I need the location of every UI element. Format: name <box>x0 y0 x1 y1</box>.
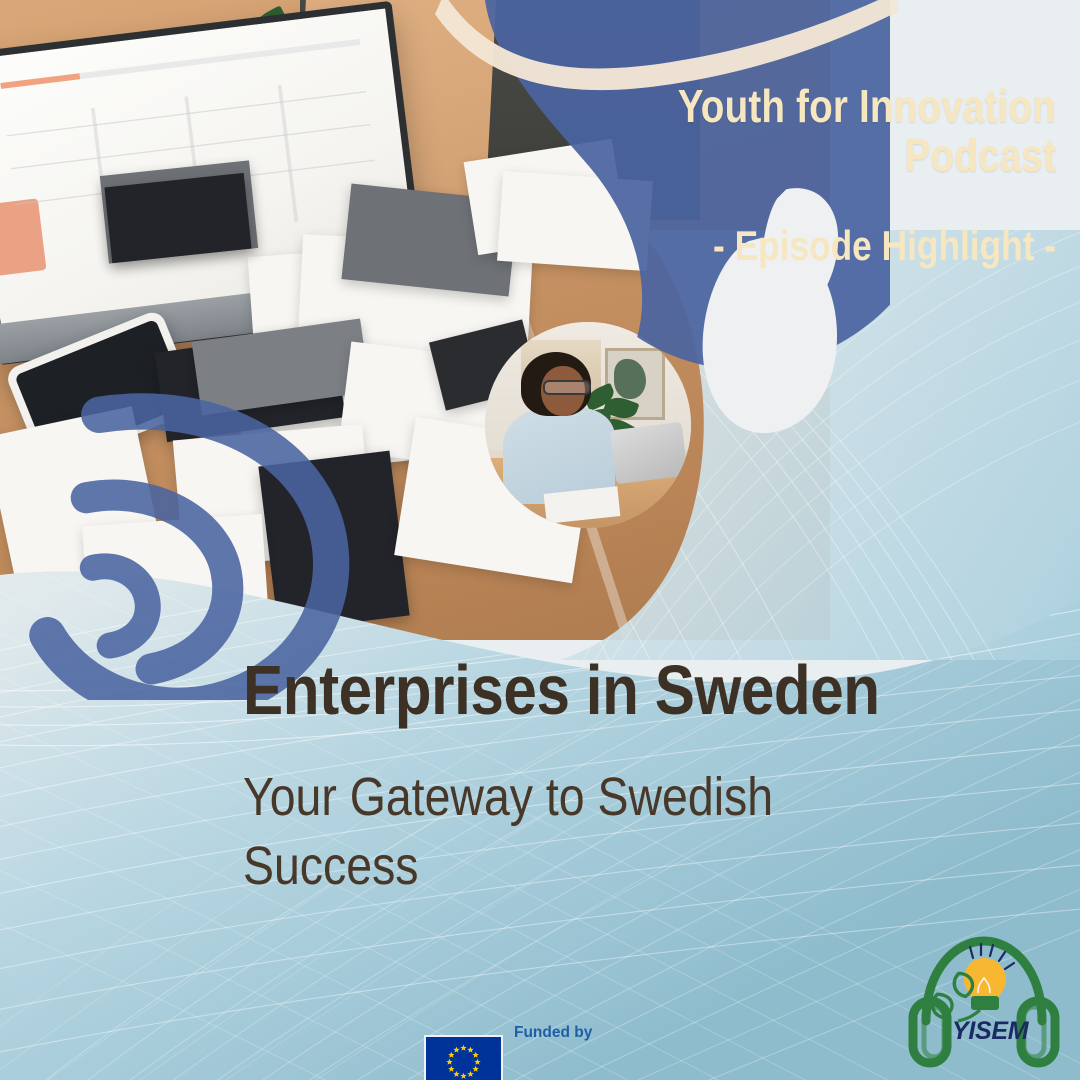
podcast-title-line2: Podcast <box>535 131 1056 180</box>
page-subtitle: Your Gateway to Swedish Success <box>243 763 776 901</box>
eu-stars <box>426 1037 501 1080</box>
bulb-base-icon <box>971 996 999 1010</box>
eu-funding-text: Funded by the European Union <box>514 984 661 1080</box>
podcast-title: Youth for Innovation Podcast <box>535 82 1056 180</box>
page-title: Enterprises in Sweden <box>243 655 897 725</box>
european-union-flag-icon <box>424 1035 503 1080</box>
yisem-wordmark: YISEM <box>952 1017 1028 1046</box>
podcast-episode-poster: Youth for Innovation Podcast - Episode H… <box>0 0 1080 1080</box>
yisem-logo: YISEM <box>900 925 1068 1075</box>
yisem-logo-mark <box>900 925 1068 1075</box>
eu-funding-logo: Funded by the European Union <box>424 984 661 1080</box>
podcast-title-line1: Youth for Innovation <box>535 82 1056 131</box>
eu-funding-line1: Funded by <box>514 1023 661 1042</box>
episode-highlight-label: - Episode Highlight - <box>535 222 1056 270</box>
